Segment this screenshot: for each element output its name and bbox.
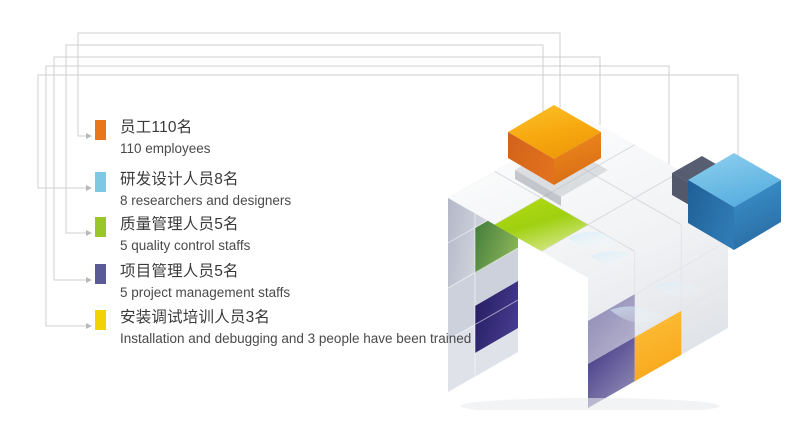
legend-item-researchers[interactable]: 研发设计人员8名 8 researchers and designers bbox=[95, 170, 291, 210]
legend-item-quality-control[interactable]: 质量管理人员5名 5 quality control staffs bbox=[95, 215, 250, 255]
legend-label-en: 5 quality control staffs bbox=[120, 236, 250, 255]
infographic-canvas: 员工110名 110 employees 研发设计人员8名 8 research… bbox=[0, 0, 800, 424]
square-swatch-yellow-icon bbox=[95, 310, 106, 330]
legend-label-cn: 项目管理人员5名 bbox=[120, 262, 290, 282]
square-swatch-light-blue-icon bbox=[95, 172, 106, 192]
legend-text-group: 研发设计人员8名 8 researchers and designers bbox=[120, 170, 291, 210]
legend-text-group: 质量管理人员5名 5 quality control staffs bbox=[120, 215, 250, 255]
legend-label-cn: 员工110名 bbox=[120, 118, 211, 138]
cube-illustration bbox=[440, 70, 800, 410]
legend-text-group: 员工110名 110 employees bbox=[120, 118, 211, 158]
legend-text-group: 安装调试培训人员3名 Installation and debugging an… bbox=[120, 308, 471, 348]
legend-item-employees[interactable]: 员工110名 110 employees bbox=[95, 118, 211, 158]
legend-label-en: 8 researchers and designers bbox=[120, 191, 291, 210]
legend-label-cn: 质量管理人员5名 bbox=[120, 215, 250, 235]
connector-arrowheads bbox=[86, 133, 92, 329]
legend-label-cn: 研发设计人员8名 bbox=[120, 170, 291, 190]
square-swatch-green-icon bbox=[95, 217, 106, 237]
legend-item-installation-training[interactable]: 安装调试培训人员3名 Installation and debugging an… bbox=[95, 308, 471, 348]
legend-item-project-management[interactable]: 项目管理人员5名 5 project management staffs bbox=[95, 262, 290, 302]
square-swatch-purple-icon bbox=[95, 264, 106, 284]
legend-label-en: 110 employees bbox=[120, 139, 211, 158]
legend-label-en: 5 project management staffs bbox=[120, 283, 290, 302]
legend-text-group: 项目管理人员5名 5 project management staffs bbox=[120, 262, 290, 302]
legend-label-en: Installation and debugging and 3 people … bbox=[120, 329, 471, 348]
square-swatch-orange-icon bbox=[95, 120, 106, 140]
legend-label-cn: 安装调试培训人员3名 bbox=[120, 308, 471, 328]
